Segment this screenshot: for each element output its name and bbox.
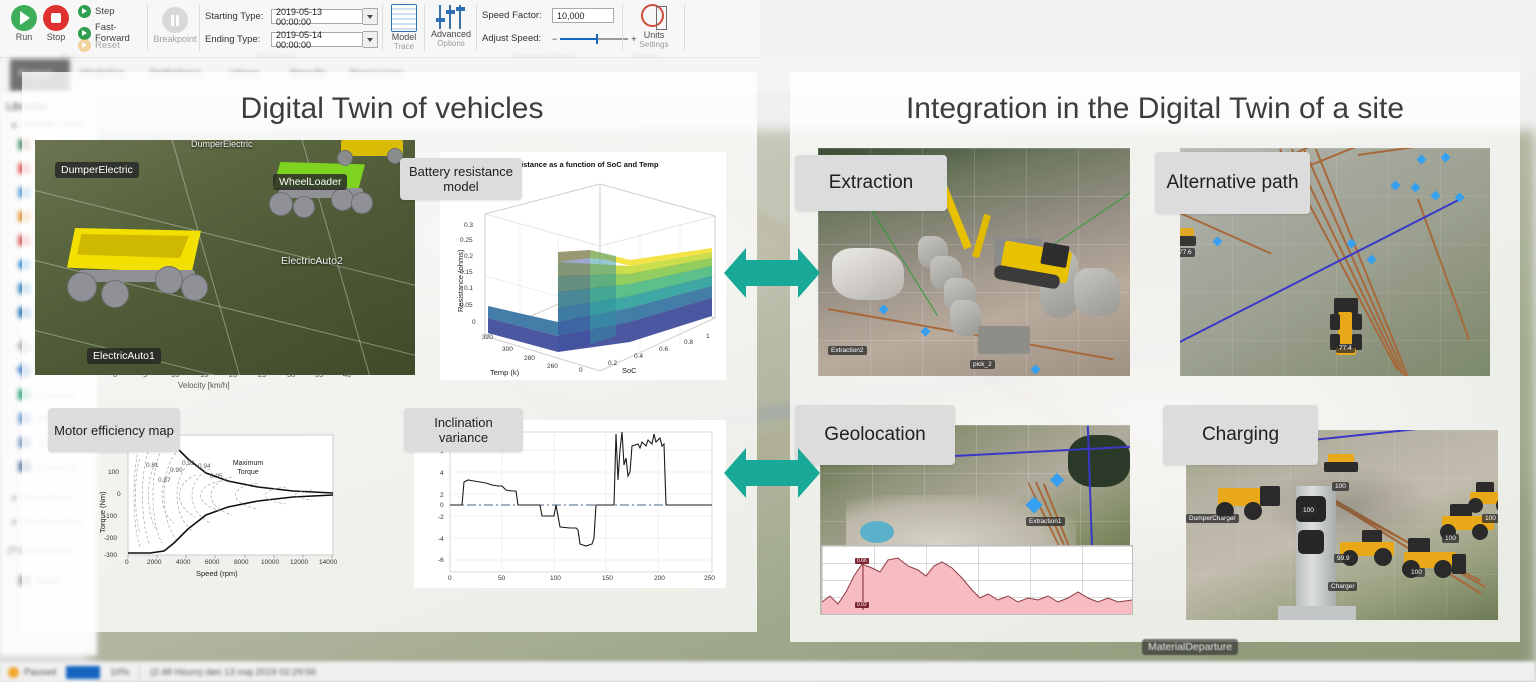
arrow-left-tip-icon bbox=[724, 248, 746, 298]
label-pick2: pick_2 bbox=[970, 360, 995, 369]
label-dumper-electric-top: DumperElectric bbox=[185, 140, 259, 151]
elevation-marker-high: 0.66 bbox=[855, 558, 869, 564]
battery-y-label: Temp (k) bbox=[490, 368, 519, 377]
label-material-departure: MaterialDeparture bbox=[1142, 639, 1238, 655]
label-electric-auto-1: ElectricAuto1 bbox=[87, 348, 161, 364]
label-dumper-charger: DumperCharger bbox=[1186, 514, 1239, 523]
soc-77-6: 77.6 bbox=[1180, 248, 1195, 257]
callout-motor: Motor efficiency map bbox=[48, 408, 180, 452]
vehicle-electric-auto-1 bbox=[63, 228, 213, 306]
elevation-marker-low: 0.02 bbox=[855, 602, 869, 608]
charger-box-bottom bbox=[1298, 530, 1324, 554]
soc-tag-1: 100 bbox=[1300, 506, 1317, 515]
motor-y-label: Torque (Nm) bbox=[98, 491, 107, 533]
arrow-right-tip-icon bbox=[798, 248, 820, 298]
label-electric-auto-2: ElectricAuto2 bbox=[275, 253, 349, 269]
velocity-axis-label: Velocity [km/h] bbox=[178, 381, 230, 390]
vehicle-top bbox=[1324, 452, 1362, 480]
callout-inclination: Inclination variance bbox=[404, 408, 523, 452]
soc-tag-3: 99.9 bbox=[1334, 554, 1353, 563]
arrow-bottom bbox=[724, 438, 820, 508]
excavator bbox=[946, 166, 1066, 316]
loader-4 bbox=[1466, 482, 1498, 514]
soc-tag-4: 100 bbox=[1408, 568, 1425, 577]
callout-battery: Battery resistance model bbox=[400, 158, 522, 200]
label-extraction2: Extraction2 bbox=[828, 346, 867, 355]
right-section-title: Integration in the Digital Twin of a sit… bbox=[790, 92, 1520, 126]
arrow-top bbox=[724, 238, 820, 308]
label-extraction1: Extraction1 bbox=[1026, 517, 1065, 526]
battery-x-label: SoC bbox=[622, 366, 637, 375]
arrow-left-tip-icon-2 bbox=[724, 448, 746, 498]
vehicle-wheel-loader bbox=[267, 162, 377, 224]
callout-alternative-path: Alternative path bbox=[1155, 152, 1310, 214]
left-section-title: Digital Twin of vehicles bbox=[22, 92, 762, 126]
soc-tag-5: 100 bbox=[1442, 534, 1459, 543]
arrow-right-tip-icon-2 bbox=[798, 448, 820, 498]
elevation-profile-chart: 0.66 0.02 bbox=[821, 545, 1133, 615]
callout-extraction: Extraction bbox=[795, 155, 947, 211]
soc-77-4: 77.4 bbox=[1336, 344, 1355, 353]
vehicle-3d-viewport[interactable]: DumperElectric WheelLoader ElectricAuto2… bbox=[35, 140, 415, 375]
max-torque-annotation: Maximum Torque bbox=[222, 459, 274, 477]
presentation-slide: Digital Twin of vehicles Integration in … bbox=[0, 0, 1536, 682]
label-charger: Charger bbox=[1328, 582, 1357, 591]
label-wheel-loader: WheelLoader bbox=[273, 174, 347, 190]
battery-z-label: Resistance (ohms) bbox=[456, 249, 465, 312]
motor-x-label: Speed (rpm) bbox=[196, 569, 238, 578]
soc-tag-2: 100 bbox=[1332, 482, 1349, 491]
soc-tag-6: 100 bbox=[1482, 514, 1498, 523]
screen: Run Stop Step Fast-Forward bbox=[0, 0, 1536, 682]
label-dumper-electric: DumperElectric bbox=[55, 162, 139, 178]
callout-charging: Charging bbox=[1163, 405, 1318, 465]
